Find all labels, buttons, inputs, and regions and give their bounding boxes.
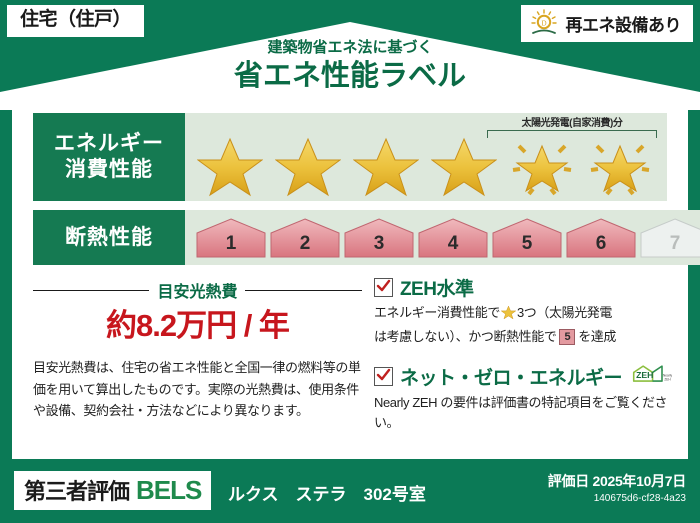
dwelling-type-label: 住宅（住戸） [20,9,131,30]
insulation-level-label: 7 [670,233,681,255]
utility-cost-value: 約8.2万円 / 年 [33,309,362,343]
energy-performance-row: エネルギー 消費性能 太陽光発電(自家消費)分 [33,113,667,201]
label-title: 建築物省エネ法に基づく 省エネ性能ラベル [0,40,700,93]
building-name: ルクス ステラ 302号室 [228,480,426,505]
net-zero-head: ネット・ゼロ・エネルギー ZEH Nearly ZEH [374,362,673,391]
insulation-level-7: 7 [639,217,700,259]
net-zero-title: ネット・ゼロ・エネルギー [400,363,622,390]
insulation-level-1: 1 [195,217,267,259]
inline-star-icon [501,308,516,323]
zeh-column: ZEH水準 エネルギー消費性能で3つ（太陽光発電 は考慮しない）、かつ断熱性能で… [374,274,673,444]
zeh-logo-icon: ZEH Nearly ZEH [629,362,673,391]
zeh-body-starcount: 3つ（太陽光発電 [517,305,612,320]
insulation-label: 断熱性能 [65,225,153,250]
utility-cost-heading: 目安光熱費 [33,278,362,302]
main-card: エネルギー 消費性能 太陽光発電(自家消費)分 [12,99,688,459]
heading-rule-left [33,290,149,291]
insulation-levels: 1 2 3 4 5 [189,217,700,259]
insulation-level-label: 2 [300,233,311,255]
insulation-level-label: 3 [374,233,385,255]
energy-label-line1: エネルギー [54,131,164,157]
star-rating [185,136,659,198]
svg-text:ZEH: ZEH [636,370,653,380]
solar-annotation-text: 太陽光発電(自家消費)分 [487,114,657,129]
dwelling-type-chip: 住宅（住戸） [7,5,144,37]
solar-annotation: 太陽光発電(自家消費)分 [487,114,657,138]
label-footer: 第三者評価 BELS ルクス ステラ 302号室 評価日 2025年10月7日 … [0,461,700,523]
zeh-body-part1: エネルギー消費性能で [374,305,500,320]
insulation-level-3: 3 [343,217,415,259]
insulation-level-label: 6 [596,233,607,255]
evaluation-id: 140675d6-cf28-4a23 [548,493,686,504]
zeh-body-part3: を達成 [578,329,616,344]
lower-section: 目安光熱費 約8.2万円 / 年 目安光熱費は、住宅の省エネ性能と全国一律の燃料… [33,274,673,444]
evaluation-info: 評価日 2025年10月7日 140675d6-cf28-4a23 [548,471,686,504]
insulation-level-label: 4 [448,233,459,255]
star-icon [269,136,347,198]
star-icon-solar [503,136,581,198]
insulation-performance-row: 断熱性能 1 2 3 [33,210,667,265]
star-icon [347,136,425,198]
bels-en-label: BELS [136,475,201,506]
solar-sun-icon: D [529,9,559,37]
evaluation-date: 評価日 2025年10月7日 [548,471,686,491]
title-main: 省エネ性能ラベル [0,59,700,94]
insulation-level-4: 4 [417,217,489,259]
net-zero-energy-item: ネット・ゼロ・エネルギー ZEH Nearly ZEH Nearly ZEH の… [374,362,673,435]
star-icon [191,136,269,198]
star-icon-solar [581,136,659,198]
inline-level-badge: 5 [559,329,575,345]
net-zero-checkbox[interactable] [374,367,393,386]
zeh-standard-head: ZEH水準 [374,274,673,301]
insulation-level-2: 2 [269,217,341,259]
svg-text:ZEH: ZEH [664,377,670,381]
insulation-level-label: 1 [226,233,237,255]
insulation-level-6: 6 [565,217,637,259]
net-zero-body: Nearly ZEH の要件は評価書の特記項目をご覧ください。 [374,393,673,435]
utility-cost-note: 目安光熱費は、住宅の省エネ性能と全国一律の燃料等の単価を用いて算出したものです。… [33,357,362,421]
insulation-level-5: 5 [491,217,563,259]
svg-text:D: D [541,20,546,28]
insulation-scale-panel: 1 2 3 4 5 [185,210,700,265]
insulation-level-label: 5 [522,233,533,255]
title-subtitle: 建築物省エネ法に基づく [0,40,700,57]
energy-performance-label-box: エネルギー 消費性能 [33,113,185,201]
insulation-performance-label-box: 断熱性能 [33,210,185,265]
energy-label-line2: 消費性能 [65,157,153,183]
energy-stars-panel: 太陽光発電(自家消費)分 [185,113,667,201]
energy-performance-label: 住宅（住戸） D 再エネ設備あり 建築物省エネ法に基づ [0,0,700,523]
star-icon [425,136,503,198]
zeh-body-part2: は考慮しない）、かつ断熱性能で [374,329,557,344]
zeh-standard-item: ZEH水準 エネルギー消費性能で3つ（太陽光発電 は考慮しない）、かつ断熱性能で… [374,274,673,348]
bels-badge: 第三者評価 BELS [14,471,211,510]
renewable-equipment-chip: D 再エネ設備あり [521,5,694,42]
bels-jp-label: 第三者評価 [24,474,129,506]
utility-cost-column: 目安光熱費 約8.2万円 / 年 目安光熱費は、住宅の省エネ性能と全国一律の燃料… [33,274,362,444]
zeh-standard-checkbox[interactable] [374,278,393,297]
renewable-equipment-label: 再エネ設備あり [566,11,682,36]
heading-rule-right [245,290,361,291]
zeh-standard-body: エネルギー消費性能で3つ（太陽光発電 は考慮しない）、かつ断熱性能で5を達成 [374,303,673,348]
zeh-standard-title: ZEH水準 [400,274,474,301]
utility-cost-heading-text: 目安光熱費 [157,278,237,302]
